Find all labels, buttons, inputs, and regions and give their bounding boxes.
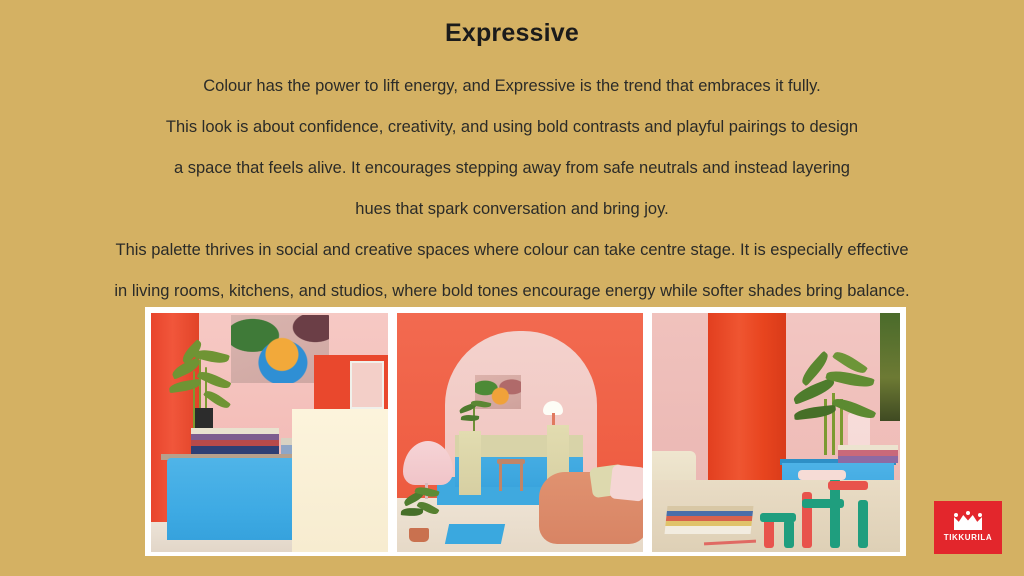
- photo3-books-on-cabinet: [838, 445, 898, 463]
- photo1-framed-picture: [350, 361, 384, 409]
- photo2-blue-rug: [445, 524, 505, 544]
- photo2-potted-plant: [399, 486, 445, 542]
- body-line-5: This palette thrives in social and creat…: [22, 230, 1002, 271]
- gallery-photo-1: [151, 313, 388, 552]
- slide-canvas: Expressive Colour has the power to lift …: [0, 0, 1024, 576]
- photo3-palm-plant: [792, 355, 878, 459]
- body-copy: Colour has the power to lift energy, and…: [22, 66, 1002, 312]
- body-line-3: a space that feels alive. It encourages …: [22, 148, 1002, 189]
- body-line-6: in living rooms, kitchens, and studios, …: [22, 271, 1002, 312]
- photo3-wall-art-edge: [880, 313, 900, 421]
- body-line-2: This look is about confidence, creativit…: [22, 107, 1002, 148]
- photo1-cream-panel: [292, 409, 388, 552]
- photo2-yellow-panel-left: [459, 431, 481, 495]
- body-line-1: Colour has the power to lift energy, and…: [22, 66, 1002, 107]
- page-title: Expressive: [0, 18, 1024, 48]
- photo3-book-stack: [665, 506, 754, 534]
- photo1-book-stack: [191, 428, 279, 454]
- gallery-photo-2: [397, 313, 644, 552]
- image-gallery-strip: [145, 307, 906, 556]
- photo3-red-panel: [708, 313, 786, 503]
- body-line-4: hues that spark conversation and bring j…: [22, 189, 1002, 230]
- logo-wordmark: TIKKURILA: [944, 533, 993, 542]
- photo2-wooden-stool: [497, 459, 525, 491]
- photo2-cushion-pink: [610, 464, 644, 501]
- gallery-photo-3: [652, 313, 900, 552]
- tikkurila-logo: TIKKURILA: [934, 501, 1002, 554]
- photo1-small-frame: [195, 408, 213, 428]
- photo2-small-plant: [459, 399, 493, 433]
- crown-icon: [953, 513, 983, 530]
